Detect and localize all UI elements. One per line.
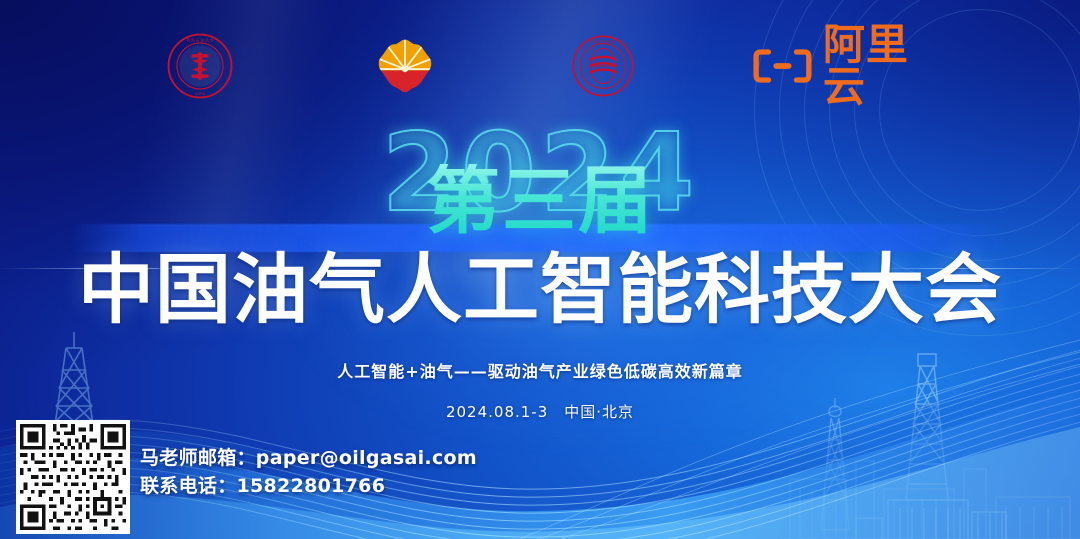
swpu-seal-icon: 西 南 石 油 大 学 SWPU	[166, 32, 234, 100]
qr-code-image	[20, 424, 126, 530]
svg-text:中 国 石 油 学 会: 中 国 石 油 学 会	[591, 39, 616, 44]
cnooc-logo: 中 国 石 油 学 会	[560, 28, 646, 104]
aliyun-wordmark-text: 阿里云	[823, 24, 942, 108]
qr-code[interactable]	[16, 420, 130, 534]
edition-text: 第三届	[0, 164, 1080, 238]
aliyun-logo: 阿里云	[752, 28, 942, 104]
sponsor-logo-row: 西 南 石 油 大 学 SWPU	[0, 28, 1080, 104]
contact-info: 马老师邮箱：paper@oilgasai.com 联系电话：1582280176…	[140, 445, 477, 500]
page-title: 中国油气人工智能科技大会	[0, 250, 1080, 331]
cnpc-sunburst-icon	[374, 35, 436, 97]
petroleum-society-seal-icon: 中 国 石 油 学 会	[571, 34, 635, 98]
aliyun-bracket-icon	[752, 46, 813, 86]
svg-text:西 南 石 油 大 学: 西 南 石 油 大 学	[186, 37, 213, 42]
svg-text:SWPU: SWPU	[195, 92, 206, 96]
conference-poster: 西 南 石 油 大 学 SWPU	[0, 0, 1080, 539]
conference-subtitle: 人工智能+油气——驱动油气产业绿色低碳高效新篇章	[0, 358, 1080, 382]
contact-phone-line: 联系电话：15822801766	[140, 473, 477, 501]
cnpc-logo	[362, 28, 448, 104]
swpu-logo: 西 南 石 油 大 学 SWPU	[152, 28, 248, 104]
contact-email-line: 马老师邮箱：paper@oilgasai.com	[140, 445, 477, 473]
conference-dateline: 2024.08.1-3 中国·北京	[0, 401, 1080, 422]
